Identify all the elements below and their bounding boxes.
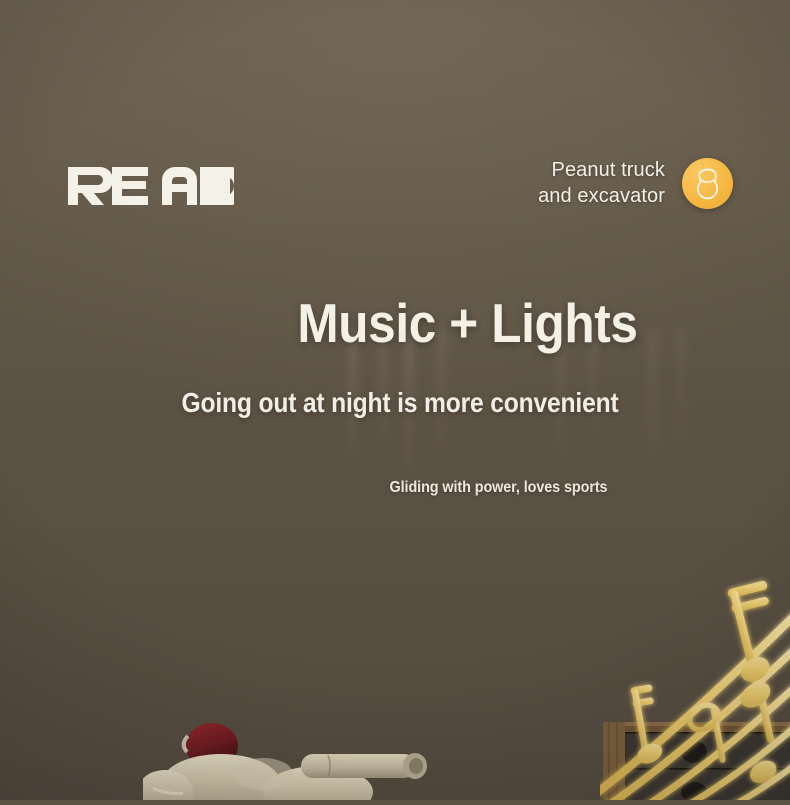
product-tag[interactable]: Peanut truck and excavator <box>538 158 733 209</box>
headline: Music + Lights <box>177 296 758 351</box>
product-tag-text: Peanut truck and excavator <box>538 158 665 209</box>
subheadline: Going out at night is more convenient <box>57 389 743 417</box>
peanut-badge[interactable] <box>682 158 733 209</box>
peanut-icon <box>693 167 723 201</box>
product-tag-line1: Peanut truck <box>538 158 665 184</box>
product-tag-line2: and excavator <box>538 184 665 210</box>
brand-logo[interactable] <box>66 163 234 209</box>
peanut-truck-toy <box>143 722 433 800</box>
reband-wordmark-logo <box>66 163 234 209</box>
marketing-copy: Music + Lights Going out at night is mor… <box>0 296 790 497</box>
tagline: Gliding with power, loves sports <box>236 479 761 497</box>
wooden-cabinet <box>603 716 790 800</box>
